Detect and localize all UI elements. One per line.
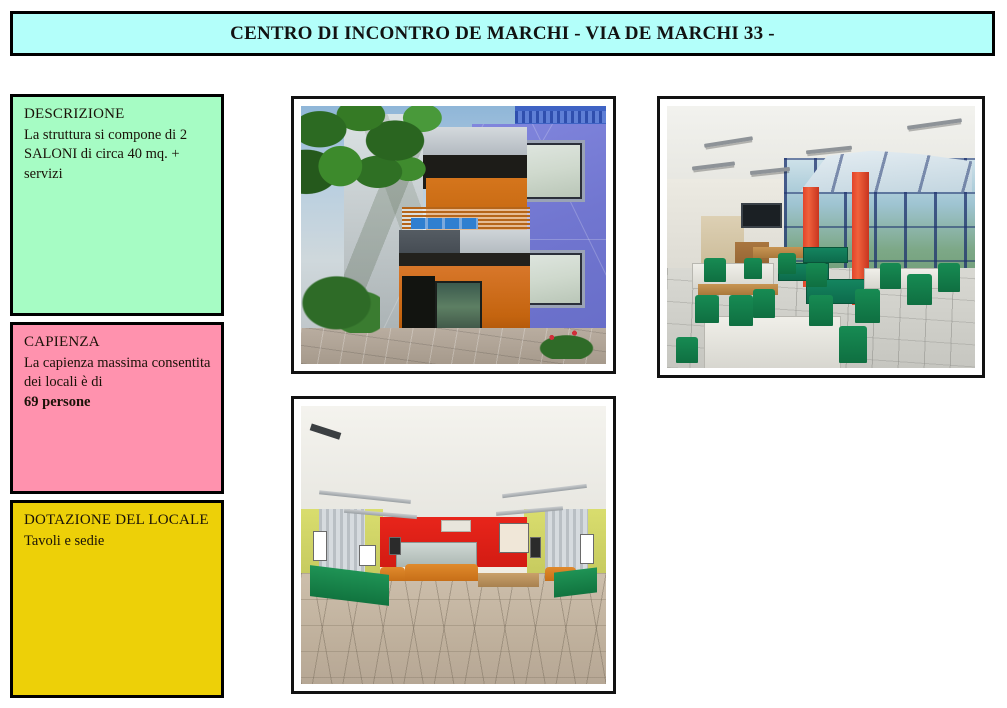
balcony-panel-light <box>460 230 530 253</box>
green-chair <box>753 289 775 318</box>
green-chair <box>778 253 796 274</box>
air-conditioner <box>441 520 470 532</box>
tree-foliage <box>301 106 460 240</box>
wall-picture <box>359 545 376 566</box>
info-box-descrizione-body: La struttura si compone di 2 SALONI di c… <box>24 126 212 184</box>
info-box-capienza-heading: CAPIENZA <box>24 333 212 353</box>
page-title: CENTRO DI INCONTRO DE MARCHI - VIA DE MA… <box>230 23 775 45</box>
wall-poster <box>499 523 528 553</box>
green-chair <box>704 258 726 282</box>
green-chair <box>809 295 834 326</box>
info-box-dotazione-heading: DOTAZIONE DEL LOCALE <box>24 511 212 531</box>
info-box-dotazione-body: Tavoli e sedie <box>24 532 212 551</box>
info-box-descrizione: DESCRIZIONE La struttura si compone di 2… <box>10 94 224 316</box>
info-box-descrizione-heading: DESCRIZIONE <box>24 105 212 125</box>
wall-speaker <box>530 537 541 558</box>
orange-chair-row <box>405 564 478 581</box>
green-chair <box>676 337 698 363</box>
info-box-dotazione: DOTAZIONE DEL LOCALE Tavoli e sedie <box>10 500 224 698</box>
green-chair <box>729 295 754 326</box>
green-chair <box>855 289 880 323</box>
hedge <box>301 266 380 333</box>
info-box-capienza: CAPIENZA La capienza massima consentita … <box>10 322 224 494</box>
photo-building-image <box>301 106 606 364</box>
wall-tv <box>741 203 782 228</box>
info-box-capienza-body: La capienza massima consentita dei local… <box>24 354 212 393</box>
green-chair <box>695 295 720 324</box>
green-chair-row-right <box>554 567 597 597</box>
wall-picture <box>580 534 594 564</box>
photo-hall-image <box>667 106 975 368</box>
green-card-table <box>803 247 848 262</box>
green-chair <box>806 263 828 287</box>
photo-building-exterior <box>291 96 616 374</box>
wall-picture <box>313 531 327 561</box>
page-title-banner: CENTRO DI INCONTRO DE MARCHI - VIA DE MA… <box>10 11 995 56</box>
green-chair <box>744 258 762 279</box>
info-box-capienza-emphasis: 69 persone <box>24 393 212 412</box>
green-chair <box>907 274 932 305</box>
photo-salon-hall <box>291 396 616 694</box>
green-chair <box>839 326 867 363</box>
wall-speaker <box>389 537 400 556</box>
flower-bed <box>533 323 600 359</box>
photo-salon-image <box>301 406 606 684</box>
low-stage-platform <box>478 573 539 587</box>
green-chair <box>880 263 902 289</box>
green-chair <box>938 263 960 292</box>
photo-hall-tables <box>657 96 985 378</box>
